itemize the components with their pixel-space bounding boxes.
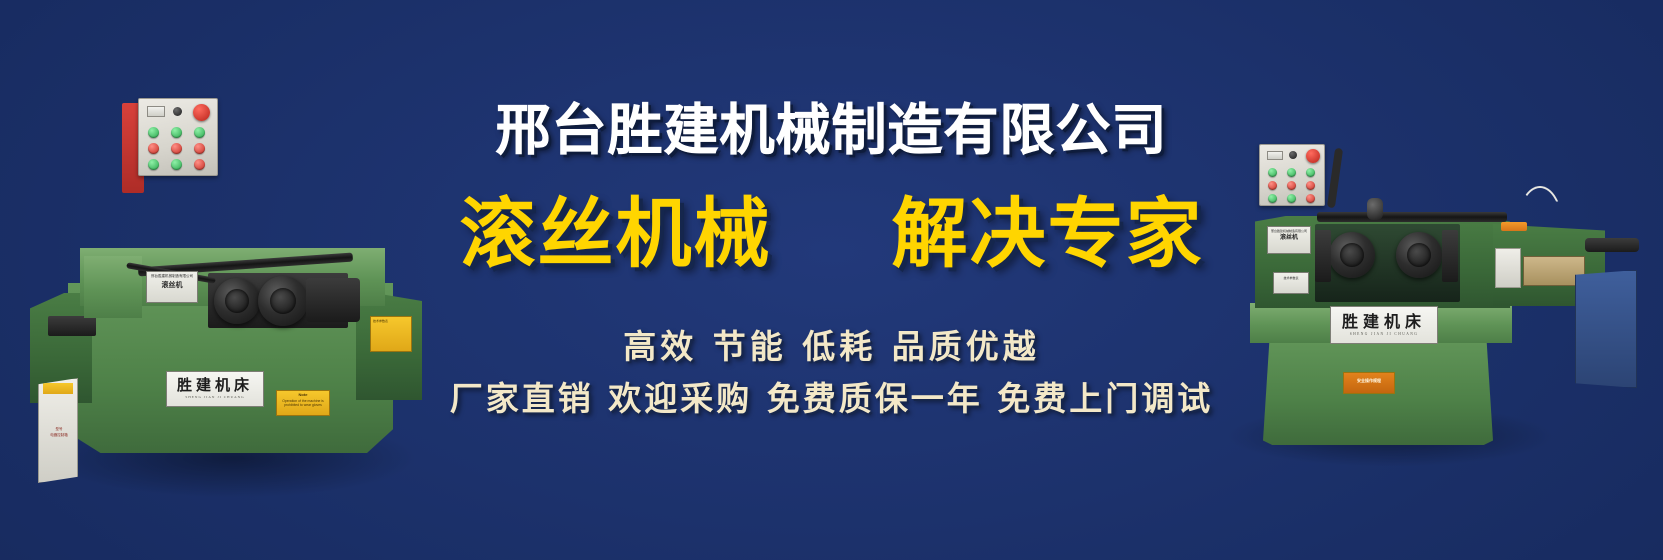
emergency-stop-button-left[interactable]: [193, 104, 210, 121]
machine-photo-left: 技术参数表 邢台胜建机械制造有: [18, 88, 438, 488]
headline: 滚丝机械 解决专家: [460, 196, 1204, 272]
machine-right-spec-plate: 邢台胜建机械制造有限公司 滚丝机: [1267, 226, 1311, 254]
control-panel-left-knob: [173, 107, 182, 116]
machine-left-spec-plate: 邢台胜建机械制造有限公司 滚丝机: [146, 271, 198, 303]
brand-nameplate-left-cn: 胜建机床: [177, 378, 253, 393]
machine-right-hose-head: [1367, 198, 1383, 220]
machine-right-hose: [1327, 148, 1343, 209]
company-name: 邢台胜建机械制造有限公司: [495, 103, 1167, 158]
indicator-button[interactable]: [194, 143, 205, 154]
cabinet-label-left-text: 型号 电器控制箱: [44, 427, 74, 438]
machine-right-nozzle: [1585, 238, 1639, 252]
promo-banner: 技术参数表 邢台胜建机械制造有: [0, 0, 1663, 560]
indicator-button[interactable]: [1268, 194, 1277, 203]
brand-nameplate-right: 胜建机床 SHENG JIAN JI CHUANG: [1330, 306, 1438, 344]
machine-left-motor: [306, 278, 360, 322]
machine-right-slide-1: [1315, 230, 1331, 282]
control-panel-right: [1259, 144, 1325, 206]
machine-right-param-plate-text: 技术参数表: [1274, 277, 1308, 280]
machine-left-spec-plate-model: 滚丝机: [147, 281, 197, 288]
machine-left-spec-label-text: 技术参数表: [373, 319, 409, 323]
machine-right-coolant-tank: [1575, 270, 1637, 388]
machine-right-wire-loop: [1517, 186, 1563, 226]
machine-right-slide-2: [1442, 230, 1458, 282]
indicator-button[interactable]: [1287, 194, 1296, 203]
machine-right-top-shaft: [1317, 212, 1507, 222]
indicator-button[interactable]: [1268, 181, 1277, 190]
machine-left-wing-shaft: [48, 316, 96, 336]
subtitle-line-1: 高效 节能 低耗 品质优越: [623, 330, 1039, 363]
machine-left-roller-2: [258, 276, 308, 326]
electric-cabinet-left: 型号 电器控制箱: [38, 378, 78, 483]
warning-plate-right: 安全操作规程: [1343, 372, 1395, 394]
headline-left: 滚丝机械: [460, 196, 772, 272]
indicator-button[interactable]: [1306, 194, 1315, 203]
machine-right-spec-plate-model: 滚丝机: [1268, 235, 1310, 241]
indicator-button[interactable]: [1287, 181, 1296, 190]
warning-plate-left-text: Operation of the machine is prohibited t…: [279, 400, 327, 408]
control-panel-left: [138, 98, 218, 176]
indicator-button[interactable]: [171, 143, 182, 154]
brand-nameplate-right-pinyin: SHENG JIAN JI CHUANG: [1350, 333, 1418, 337]
machine-left-spec-label: 技术参数表: [370, 316, 412, 352]
machine-right-spec-plate-company: 邢台胜建机械制造有限公司: [1268, 230, 1310, 233]
brand-nameplate-left: 胜建机床 SHENG JIAN JI CHUANG: [166, 371, 264, 407]
control-panel-right-display: [1267, 151, 1283, 160]
indicator-button[interactable]: [194, 127, 205, 138]
indicator-button[interactable]: [1306, 181, 1315, 190]
indicator-button[interactable]: [1268, 168, 1277, 177]
machine-right-roller-1: [1329, 232, 1375, 278]
machine-right-feeder: [1495, 248, 1521, 288]
indicator-button[interactable]: [148, 143, 159, 154]
indicator-button[interactable]: [171, 159, 182, 170]
emergency-stop-button-right[interactable]: [1306, 149, 1320, 163]
indicator-button[interactable]: [1287, 168, 1296, 177]
machine-left-spec-plate-company: 邢台胜建机械制造有限公司: [147, 275, 197, 279]
indicator-button[interactable]: [171, 127, 182, 138]
brand-nameplate-right-cn: 胜建机床: [1342, 314, 1426, 330]
machine-right-param-plate: 技术参数表: [1273, 272, 1309, 294]
indicator-button[interactable]: [148, 159, 159, 170]
headline-right: 解决专家: [892, 196, 1204, 272]
warning-plate-left: Note Operation of the machine is prohibi…: [276, 390, 330, 416]
control-panel-left-display: [147, 106, 165, 117]
cabinet-label-left: [43, 383, 73, 394]
warning-plate-right-text: 安全操作规程: [1346, 379, 1392, 384]
machine-right-roller-2: [1396, 232, 1442, 278]
indicator-button[interactable]: [194, 159, 205, 170]
indicator-button[interactable]: [148, 127, 159, 138]
brand-nameplate-left-pinyin: SHENG JIAN JI CHUANG: [185, 396, 244, 400]
machine-photo-right: 邢台胜建机械制造有限公司 滚丝机 技术参数表 胜建机床 SHENG JIAN J…: [1165, 120, 1645, 460]
indicator-button[interactable]: [1306, 168, 1315, 177]
machine-left-roller-1: [214, 278, 260, 324]
control-panel-right-knob: [1289, 151, 1297, 159]
warning-plate-left-title: Note: [279, 393, 327, 398]
subtitle-line-2: 厂家直销 欢迎采购 免费质保一年 免费上门调试: [450, 382, 1213, 415]
